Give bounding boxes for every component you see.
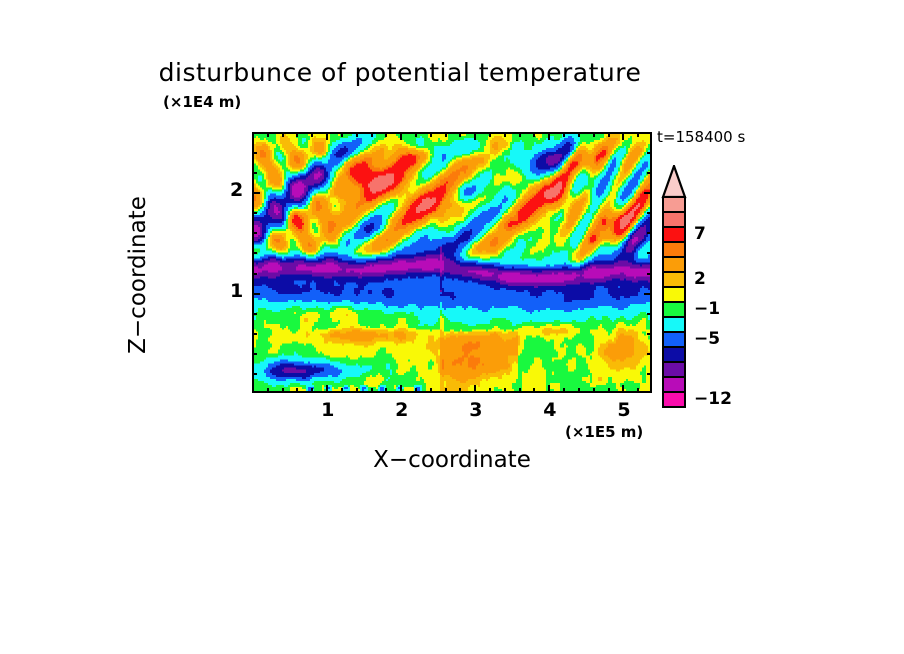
x-axis-title: X−coordinate (252, 447, 652, 473)
tick-mark (563, 388, 565, 393)
tick-mark (647, 273, 652, 275)
tick-mark (504, 132, 506, 137)
tick-mark (252, 232, 257, 234)
tick-mark (267, 388, 269, 393)
tick-mark (430, 132, 432, 137)
tick-mark (326, 132, 328, 140)
x-tick-label-1: 1 (321, 399, 334, 421)
tick-mark (252, 212, 257, 214)
tick-mark (385, 132, 387, 137)
tick-mark (311, 388, 313, 393)
tick-mark (608, 388, 610, 393)
tick-mark (252, 353, 257, 355)
tick-mark (296, 132, 298, 137)
tick-mark (252, 252, 257, 254)
x-axis-unit-label: (×1E5 m) (565, 423, 643, 441)
tick-mark (647, 212, 652, 214)
colorbar-swatches (660, 165, 688, 428)
y-tick-label-2: 2 (230, 179, 243, 201)
tick-mark (400, 132, 402, 140)
tick-mark (252, 293, 260, 295)
y-axis-title: Z−coordinate (125, 115, 151, 435)
tick-mark (548, 132, 550, 140)
tick-mark (326, 385, 328, 393)
contour-plot (252, 132, 652, 393)
tick-mark (622, 132, 624, 140)
tick-mark (647, 333, 652, 335)
colorbar-tick-label-3: −5 (694, 329, 720, 349)
tick-mark (644, 293, 652, 295)
tick-mark (647, 373, 652, 375)
timestamp-label: t=158400 s (657, 128, 745, 146)
tick-mark (474, 132, 476, 140)
tick-mark (489, 132, 491, 137)
tick-mark (622, 385, 624, 393)
x-tick-label-5: 5 (617, 399, 630, 421)
tick-mark (415, 388, 417, 393)
tick-mark (282, 132, 284, 137)
tick-mark (430, 388, 432, 393)
tick-mark (647, 232, 652, 234)
y-tick-label-1: 1 (230, 280, 243, 302)
tick-mark (415, 132, 417, 137)
tick-mark (371, 132, 373, 137)
tick-mark (578, 388, 580, 393)
tick-mark (647, 252, 652, 254)
tick-mark (282, 388, 284, 393)
tick-mark (252, 333, 257, 335)
tick-mark (637, 388, 639, 393)
tick-mark (252, 273, 257, 275)
tick-mark (637, 132, 639, 137)
tick-mark (647, 313, 652, 315)
tick-mark (519, 132, 521, 137)
tick-mark (593, 132, 595, 137)
page-title-text: disturbunce of potential temperature (159, 58, 642, 87)
tick-mark (445, 388, 447, 393)
tick-mark (548, 385, 550, 393)
tick-mark (647, 172, 652, 174)
tick-mark (474, 385, 476, 393)
tick-mark (459, 132, 461, 137)
tick-mark (593, 388, 595, 393)
tick-mark (504, 388, 506, 393)
x-tick-label-4: 4 (543, 399, 556, 421)
tick-mark (252, 192, 260, 194)
tick-mark (371, 388, 373, 393)
tick-mark (296, 388, 298, 393)
tick-mark (489, 388, 491, 393)
colorbar-tick-label-2: −1 (694, 299, 720, 319)
tick-mark (356, 388, 358, 393)
tick-mark (647, 152, 652, 154)
colorbar-tick-label-4: −12 (694, 389, 732, 409)
colorbar-tick-label-1: 2 (694, 269, 706, 289)
tick-mark (252, 373, 257, 375)
tick-mark (519, 388, 521, 393)
tick-mark (533, 132, 535, 137)
tick-mark (311, 132, 313, 137)
tick-mark (341, 132, 343, 137)
tick-mark (400, 385, 402, 393)
page-title: disturbunce of potential temperature (0, 58, 904, 87)
tick-mark (252, 172, 257, 174)
figure-canvas: disturbunce of potential temperature (×1… (0, 0, 904, 654)
tick-mark (267, 132, 269, 137)
x-tick-label-3: 3 (469, 399, 482, 421)
tick-mark (578, 132, 580, 137)
tick-mark (459, 388, 461, 393)
colorbar-tick-label-0: 7 (694, 224, 706, 244)
tick-mark (356, 132, 358, 137)
tick-mark (563, 132, 565, 137)
x-tick-label-2: 2 (395, 399, 408, 421)
tick-mark (445, 132, 447, 137)
tick-mark (533, 388, 535, 393)
tick-mark (385, 388, 387, 393)
tick-mark (252, 313, 257, 315)
tick-mark (341, 388, 343, 393)
tick-mark (647, 353, 652, 355)
y-axis-unit-label: (×1E4 m) (163, 93, 241, 111)
tick-mark (608, 132, 610, 137)
tick-mark (252, 152, 257, 154)
tick-mark (644, 192, 652, 194)
